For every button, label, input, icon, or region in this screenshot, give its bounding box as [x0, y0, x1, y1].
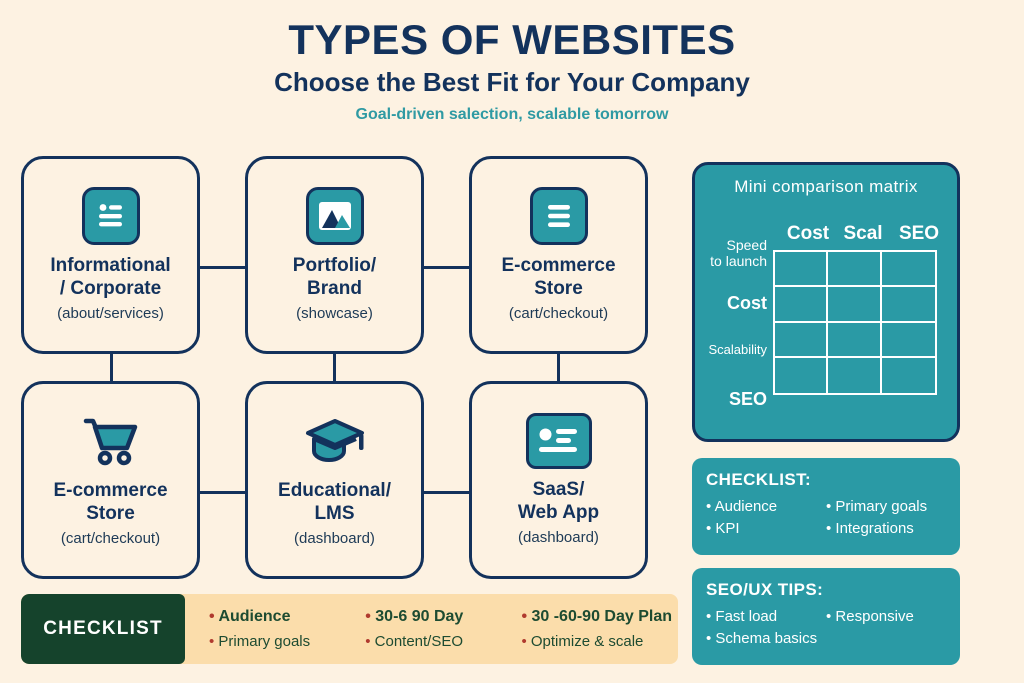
matrix-cell[interactable]	[882, 252, 935, 287]
bottom-checklist-line: Primary goals	[209, 630, 355, 653]
matrix-title: Mini comparison matrix	[695, 177, 957, 197]
bottom-checklist-line: 30-6 90 Day	[365, 605, 511, 630]
matrix-row-label-scalability: Scalability	[695, 343, 767, 358]
connector-card1-card4	[110, 352, 113, 384]
matrix-cell[interactable]	[775, 287, 828, 322]
connector-card2-card3	[423, 266, 473, 269]
seo-ux-tips-panel: SEO/UX TIPS: Fast load Responsive Schema…	[692, 568, 960, 665]
connector-card2-card5	[333, 352, 336, 384]
matrix-cell[interactable]	[828, 287, 881, 322]
matrix-row-label-speed-to-launch: Speed to launch	[703, 237, 767, 269]
bottom-checklist-line: Audience	[209, 605, 355, 630]
bottom-checklist-column: Audience Primary goals	[199, 605, 355, 653]
matrix-cell[interactable]	[882, 358, 935, 393]
matrix-column-header-scal: Scal	[835, 223, 891, 245]
card-ecommerce-store-bottom[interactable]: E-commerce Store (cart/checkout)	[21, 381, 200, 579]
checklist-item: KPI	[706, 518, 826, 540]
matrix-cell[interactable]	[882, 287, 935, 322]
comparison-matrix-panel: Mini comparison matrix Cost Scal SEO Spe…	[692, 162, 960, 442]
list-lines-icon	[530, 187, 588, 245]
seo-ux-tips-panel-items: Fast load Responsive Schema basics	[706, 606, 946, 650]
matrix-column-header-cost: Cost	[779, 223, 837, 245]
card-sublabel: (cart/checkout)	[509, 305, 608, 323]
infographic-canvas: TYPES OF WEBSITES Choose the Best Fit fo…	[0, 0, 1024, 683]
document-icon	[82, 187, 140, 245]
card-sublabel: (cart/checkout)	[61, 530, 160, 548]
checklist-item: Primary goals	[826, 496, 946, 518]
tips-item: Responsive	[826, 606, 946, 628]
page-tagline: Goal-driven salection, scalable tomorrow	[0, 106, 1024, 124]
card-sublabel: (dashboard)	[294, 530, 375, 548]
tips-item: Schema basics	[706, 628, 946, 650]
card-informational-corporate[interactable]: Informational / Corporate (about/service…	[21, 156, 200, 354]
card-sublabel: (about/services)	[57, 305, 164, 323]
matrix-cell[interactable]	[828, 252, 881, 287]
tips-item: Fast load	[706, 606, 826, 628]
checklist-item: Audience	[706, 496, 826, 518]
matrix-column-header-seo: SEO	[891, 223, 947, 245]
dashboard-card-icon	[526, 413, 592, 469]
card-educational-lms[interactable]: Educational/ LMS (dashboard)	[245, 381, 424, 579]
page-subtitle: Choose the Best Fit for Your Company	[0, 68, 1024, 97]
connector-card5-card6	[423, 491, 473, 494]
header: TYPES OF WEBSITES Choose the Best Fit fo…	[0, 18, 1024, 123]
checklist-panel-items: Audience Primary goals KPI Integrations	[706, 496, 946, 540]
bottom-checklist-columns: Audience Primary goals 30-6 90 Day Conte…	[199, 594, 672, 664]
checklist-panel-title: CHECKLIST:	[706, 470, 946, 490]
matrix-cell[interactable]	[775, 358, 828, 393]
bottom-checklist-line: Content/SEO	[365, 630, 511, 653]
bottom-checklist-bar: CHECKLIST Audience Primary goals 30-6 90…	[21, 594, 678, 664]
card-label: Informational / Corporate	[50, 255, 170, 300]
matrix-row-label-cost: Cost	[703, 293, 767, 314]
matrix-cell[interactable]	[775, 252, 828, 287]
card-sublabel: (dashboard)	[518, 529, 599, 547]
card-label: E-commerce Store	[53, 480, 167, 525]
card-sublabel: (showcase)	[296, 305, 373, 323]
bottom-checklist-line: 30 -60-90 Day Plan	[521, 605, 672, 630]
matrix-cell[interactable]	[828, 323, 881, 358]
card-label: SaaS/ Web App	[518, 479, 599, 524]
matrix-cell[interactable]	[775, 323, 828, 358]
card-ecommerce-store-top[interactable]: E-commerce Store (cart/checkout)	[469, 156, 648, 354]
bottom-checklist-column: 30-6 90 Day Content/SEO	[355, 605, 511, 653]
card-label: E-commerce Store	[501, 255, 615, 300]
bottom-checklist-tag: CHECKLIST	[21, 594, 185, 664]
connector-card3-card6	[557, 352, 560, 384]
seo-ux-tips-panel-title: SEO/UX TIPS:	[706, 580, 946, 600]
matrix-cell[interactable]	[882, 323, 935, 358]
connector-card1-card2	[199, 266, 249, 269]
graduation-cap-icon	[304, 412, 366, 470]
bottom-checklist-line: Optimize & scale	[521, 630, 672, 653]
checklist-item: Integrations	[826, 518, 946, 540]
matrix-cell[interactable]	[828, 358, 881, 393]
image-icon	[306, 187, 364, 245]
connector-card4-card5	[199, 491, 249, 494]
card-saas-web-app[interactable]: SaaS/ Web App (dashboard)	[469, 381, 648, 579]
card-portfolio-brand[interactable]: Portfolio/ Brand (showcase)	[245, 156, 424, 354]
bottom-checklist-tag-label: CHECKLIST	[43, 618, 163, 640]
matrix-row-label-seo: SEO	[703, 389, 767, 410]
card-label: Educational/ LMS	[278, 480, 391, 525]
matrix-grid	[773, 250, 937, 395]
checklist-panel: CHECKLIST: Audience Primary goals KPI In…	[692, 458, 960, 555]
page-title: TYPES OF WEBSITES	[0, 18, 1024, 62]
card-label: Portfolio/ Brand	[293, 255, 376, 300]
shopping-cart-icon	[80, 412, 142, 470]
bottom-checklist-column: 30 -60-90 Day Plan Optimize & scale	[511, 605, 672, 653]
